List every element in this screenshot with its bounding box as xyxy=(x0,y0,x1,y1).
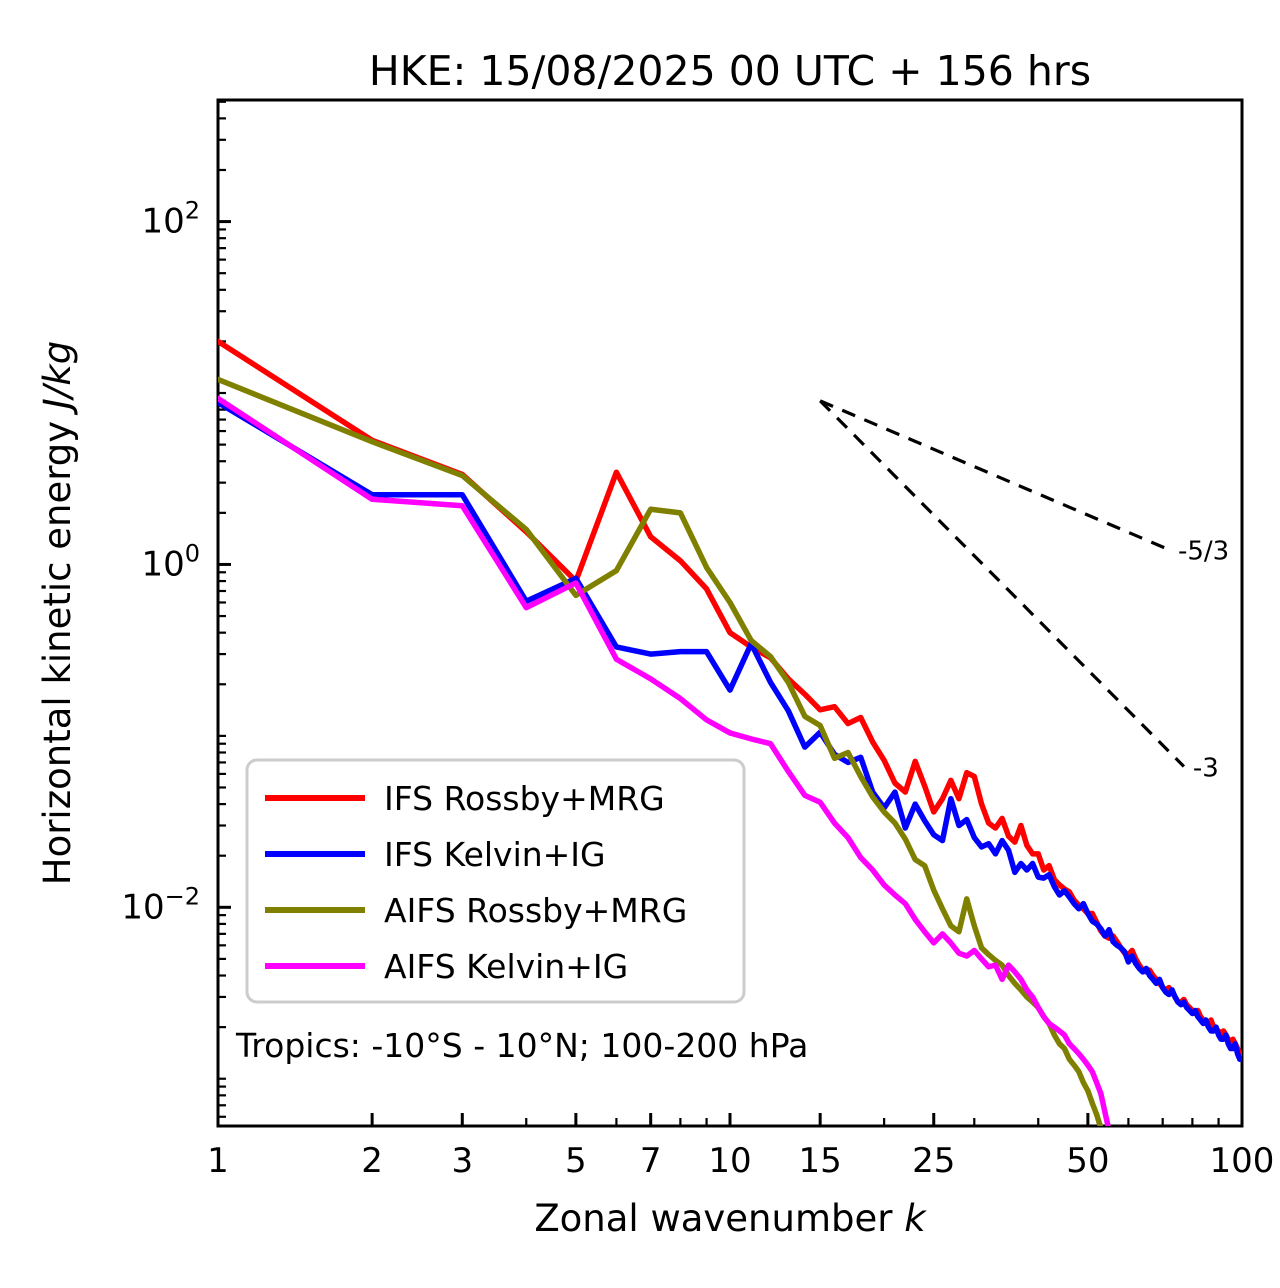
x-tick-label: 10 xyxy=(708,1141,751,1181)
legend[interactable]: IFS Rossby+MRGIFS Kelvin+IGAIFS Rossby+M… xyxy=(247,760,744,1002)
x-tick-label: 100 xyxy=(1210,1141,1275,1181)
figure-canvas: HKE: 15/08/2025 00 UTC + 156 hrs 1021001… xyxy=(0,0,1280,1288)
legend-label-0[interactable]: IFS Rossby+MRG xyxy=(384,779,665,818)
x-tick-label: 3 xyxy=(451,1141,473,1181)
spectral-plot: HKE: 15/08/2025 00 UTC + 156 hrs 1021001… xyxy=(0,0,1280,1288)
legend-label-1[interactable]: IFS Kelvin+IG xyxy=(384,835,606,874)
legend-label-2[interactable]: AIFS Rossby+MRG xyxy=(384,891,687,930)
region-annotation: Tropics: -10°S - 10°N; 100-200 hPa xyxy=(235,1026,808,1065)
x-tick-label: 2 xyxy=(361,1141,383,1181)
x-tick-label: 50 xyxy=(1066,1141,1109,1181)
x-tick-label: 5 xyxy=(565,1141,587,1181)
x-tick-label: 7 xyxy=(640,1141,662,1181)
x-axis-label: Zonal wavenumber k xyxy=(534,1197,927,1240)
x-tick-label: 1 xyxy=(207,1141,229,1181)
y-axis-label: Horizontal kinetic energy J/kg xyxy=(36,341,79,885)
slope-label--3: -3 xyxy=(1193,753,1219,783)
x-tick-label: 25 xyxy=(912,1141,955,1181)
page-title: HKE: 15/08/2025 00 UTC + 156 hrs xyxy=(369,47,1091,95)
legend-label-3[interactable]: AIFS Kelvin+IG xyxy=(384,947,628,986)
slope-label--5-3: -5/3 xyxy=(1178,537,1229,567)
x-tick-label: 15 xyxy=(799,1141,842,1181)
